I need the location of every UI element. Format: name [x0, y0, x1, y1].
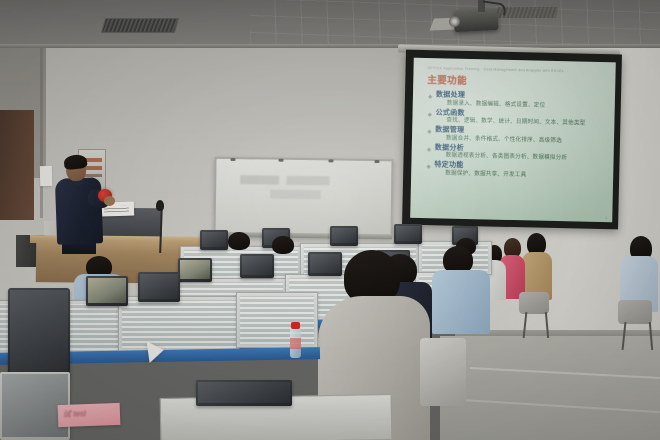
- paper-cone: [147, 339, 166, 363]
- whiteboard-clip: [374, 160, 379, 163]
- monitor: [138, 272, 180, 302]
- instructor-hand: [104, 196, 115, 206]
- monitor: [330, 226, 358, 246]
- microphone-icon: [156, 200, 164, 211]
- keyboard: [196, 380, 292, 406]
- chair: [420, 338, 466, 406]
- whiteboard: [213, 157, 393, 239]
- projection-screen: OFFICE Application Training · Data Manag…: [402, 50, 622, 230]
- desk-partition: [236, 292, 318, 348]
- desk-label-card: 试 test: [58, 403, 121, 427]
- monitor: [394, 224, 422, 244]
- screen-surface: OFFICE Application Training · Data Manag…: [410, 58, 616, 223]
- wooden-door: [0, 110, 34, 220]
- torso-student-blue-shirt: [432, 270, 490, 334]
- monitor: [200, 230, 228, 250]
- notice-paper: [40, 166, 52, 186]
- head-student-back-row: [272, 236, 294, 254]
- chair: [519, 292, 549, 314]
- chair: [618, 300, 652, 324]
- desk-label-text: 试 test: [63, 408, 86, 420]
- instructor-torso: [55, 177, 103, 245]
- whiteboard-clip: [231, 158, 236, 161]
- classroom-photo: OFFICE Application Training · Data Manag…: [0, 0, 660, 440]
- slide-section: 特定功能 数据保护、数据共享、开发工具: [427, 161, 605, 182]
- bottle-label: [290, 338, 301, 349]
- slide-title: 主要功能: [427, 72, 607, 90]
- monitor: [240, 254, 274, 278]
- slide-content: OFFICE Application Training · Data Manag…: [410, 58, 616, 223]
- floor: [440, 336, 660, 440]
- head-student-back-row: [228, 232, 250, 250]
- monitor: [308, 252, 342, 276]
- monitor: [86, 276, 128, 306]
- whiteboard-clip: [279, 159, 284, 162]
- ceiling-vent-icon: [101, 18, 179, 33]
- monitor: [178, 258, 212, 282]
- wall-column-edge: [40, 48, 43, 218]
- desk-partition: [118, 296, 240, 352]
- whiteboard-clip: [329, 159, 334, 162]
- monitor-large-foreground: [8, 288, 70, 378]
- bottle-cap: [291, 322, 300, 329]
- slide-page-number: 5: [605, 216, 607, 220]
- whiteboard-erased-writing: [240, 175, 360, 203]
